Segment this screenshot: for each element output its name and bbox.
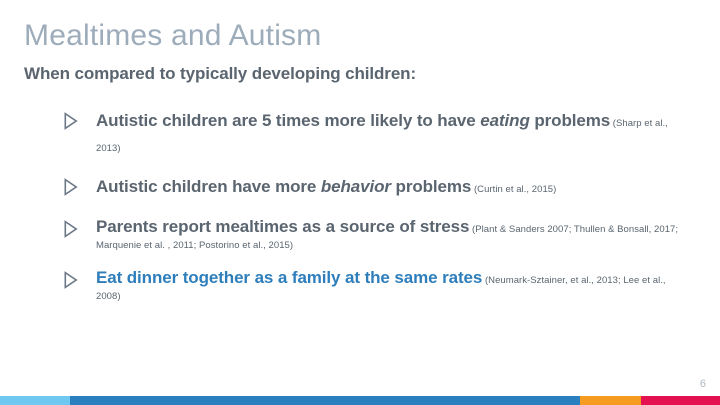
page-number: 6: [700, 378, 706, 391]
bullet-text-lead: Parents report mealtimes as a source of …: [96, 217, 469, 236]
list-item: Autistic children have more behavior pro…: [62, 174, 692, 202]
slide-subtitle: When compared to typically developing ch…: [24, 63, 416, 84]
footer-segment-light-blue: [0, 396, 70, 405]
slide-canvas: Mealtimes and Autism When compared to ty…: [0, 0, 720, 405]
bullet-text: Parents report mealtimes as a source of …: [96, 217, 469, 236]
hollow-triangle-right-icon: [63, 112, 79, 130]
list-item: Autistic children are 5 times more likel…: [62, 108, 692, 161]
bullet-text: Autistic children have more behavior pro…: [96, 177, 471, 196]
bullet-text-lead: Autistic children have more: [96, 177, 321, 196]
footer-color-bar: [0, 396, 720, 405]
bullet-text-emphasis: behavior: [321, 177, 391, 196]
bullet-text-lead: Autistic children are 5 times more likel…: [96, 111, 480, 130]
footer-segment-blue: [70, 396, 580, 405]
bullet-list: Autistic children are 5 times more likel…: [62, 108, 692, 318]
bullet-text-lead: Eat dinner together as a family at the s…: [96, 268, 482, 287]
bullet-text-tail: problems: [391, 177, 471, 196]
bullet-text-emphasis: eating: [480, 111, 529, 130]
hollow-triangle-right-icon: [63, 220, 79, 238]
list-item: Parents report mealtimes as a source of …: [62, 216, 692, 253]
list-item: Eat dinner together as a family at the s…: [62, 267, 692, 304]
footer-segment-orange: [580, 396, 641, 405]
bullet-text: Eat dinner together as a family at the s…: [96, 268, 482, 287]
footer-segment-crimson: [641, 396, 720, 405]
hollow-triangle-right-icon: [63, 271, 79, 289]
bullet-text-tail: problems: [530, 111, 610, 130]
hollow-triangle-right-icon: [63, 178, 79, 196]
citation: (Curtin et al., 2015): [471, 184, 556, 195]
page-title: Mealtimes and Autism: [24, 19, 321, 53]
bullet-text: Autistic children are 5 times more likel…: [96, 111, 610, 130]
